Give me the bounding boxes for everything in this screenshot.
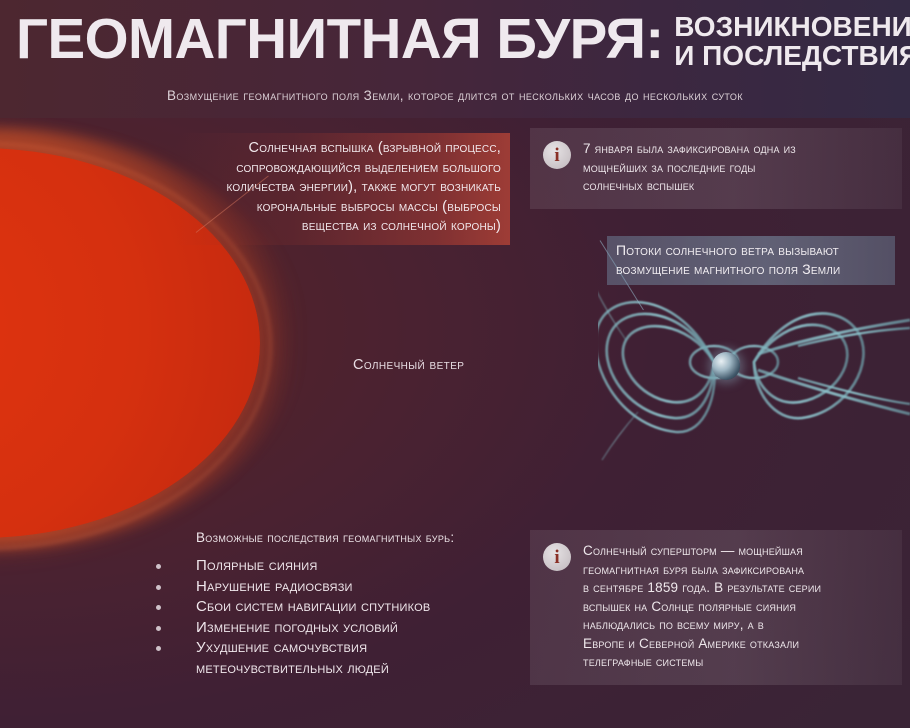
info-top-line-2: мощнейших за последние годы: [583, 159, 796, 178]
info-bottom-line-5: наблюдались по всему миру, а в: [583, 616, 821, 635]
info-card-flare-january: i 7 января была зафиксирована одна из мо…: [530, 128, 902, 209]
flare-line-4: корональные выбросы массы (выбросы: [184, 198, 501, 218]
info-bottom-line-1: Солнечный супершторм — мощнейшая: [583, 542, 821, 561]
page-title: ГЕОМАГНИТНАЯ БУРЯ: ВОЗНИКНОВЕНИЕ И ПОСЛЕ…: [16, 8, 900, 70]
bullet-icon: [156, 626, 161, 631]
wind-line-1: Потоки солнечного ветра вызывают: [616, 241, 887, 260]
consequence-text: Полярные сияния: [196, 556, 526, 577]
info-card-top-text: 7 января была зафиксирована одна из мощн…: [583, 140, 796, 196]
solar-wind-label: Солнечный ветер: [353, 357, 464, 373]
info-bottom-line-2: геомагнитная буря была зафиксирована: [583, 561, 821, 580]
info-card-bottom-text: Солнечный супершторм — мощнейшая геомагн…: [583, 542, 821, 672]
consequences-list: Полярные сияния Нарушение радиосвязи Сбо…: [196, 556, 526, 679]
bullet-icon: [156, 605, 161, 610]
consequence-text: Нарушение радиосвязи: [196, 577, 526, 598]
info-bottom-line-4: вспышек на Солнце полярные сияния: [583, 598, 821, 617]
solar-wind-callout: Потоки солнечного ветра вызывают возмуще…: [607, 236, 895, 285]
info-card-superstorm-1859: i Солнечный супершторм — мощнейшая геома…: [530, 530, 902, 685]
info-bottom-line-6: Европе и Северной Америке отказали: [583, 635, 821, 654]
flare-line-2: сопровождающийся выделением большого: [184, 159, 501, 179]
title-sub-line-1: ВОЗНИКНОВЕНИЕ: [674, 12, 910, 41]
info-icon: i: [543, 543, 571, 571]
bullet-icon: [156, 564, 161, 569]
info-icon: i: [543, 141, 571, 169]
title-sub-line-2: И ПОСЛЕДСТВИЯ: [674, 41, 910, 70]
consequence-text: Сбои систем навигации спутников: [196, 597, 526, 618]
info-top-line-3: солнечных вспышек: [583, 177, 796, 196]
wind-line-2: возмущение магнитного поля Земли: [616, 260, 887, 279]
header-subtitle: Возмущение геомагнитного поля Земли, кот…: [0, 88, 910, 103]
magnetosphere-field-lines: [598, 262, 910, 482]
consequence-text: Ухудшение самочувствия: [196, 638, 526, 659]
list-item: Изменение погодных условий: [196, 618, 526, 639]
list-item: Полярные сияния: [196, 556, 526, 577]
consequences-block: Возможные последствия геомагнитных бурь:…: [196, 530, 526, 679]
list-item: Нарушение радиосвязи: [196, 577, 526, 598]
bullet-icon: [156, 585, 161, 590]
info-bottom-line-3: в сентябре 1859 года. В результате серии: [583, 579, 821, 598]
earth: [712, 352, 740, 380]
list-item: Сбои систем навигации спутников: [196, 597, 526, 618]
header: ГЕОМАГНИТНАЯ БУРЯ: ВОЗНИКНОВЕНИЕ И ПОСЛЕ…: [0, 0, 910, 118]
consequence-text-wrap: метеочувствительных людей: [196, 659, 526, 680]
bullet-icon: [156, 646, 161, 651]
consequences-title: Возможные последствия геомагнитных бурь:: [196, 530, 526, 545]
list-item: Ухудшение самочувствия метеочувствительн…: [196, 638, 526, 679]
flare-line-3: количества энергии), также могут возника…: [184, 178, 501, 198]
flare-line-5: вещества из солнечной короны): [184, 217, 501, 237]
title-sub: ВОЗНИКНОВЕНИЕ И ПОСЛЕДСТВИЯ: [674, 12, 910, 70]
info-bottom-line-7: телеграфные системы: [583, 653, 821, 672]
title-main: ГЕОМАГНИТНАЯ БУРЯ:: [16, 8, 664, 70]
solar-flare-callout: Солнечная вспышка (взрывной процесс, соп…: [175, 133, 510, 245]
consequence-text: Изменение погодных условий: [196, 618, 526, 639]
flare-line-1: Солнечная вспышка (взрывной процесс,: [184, 139, 501, 159]
infographic-poster: ГЕОМАГНИТНАЯ БУРЯ: ВОЗНИКНОВЕНИЕ И ПОСЛЕ…: [0, 0, 910, 728]
info-top-line-1: 7 января была зафиксирована одна из: [583, 140, 796, 159]
